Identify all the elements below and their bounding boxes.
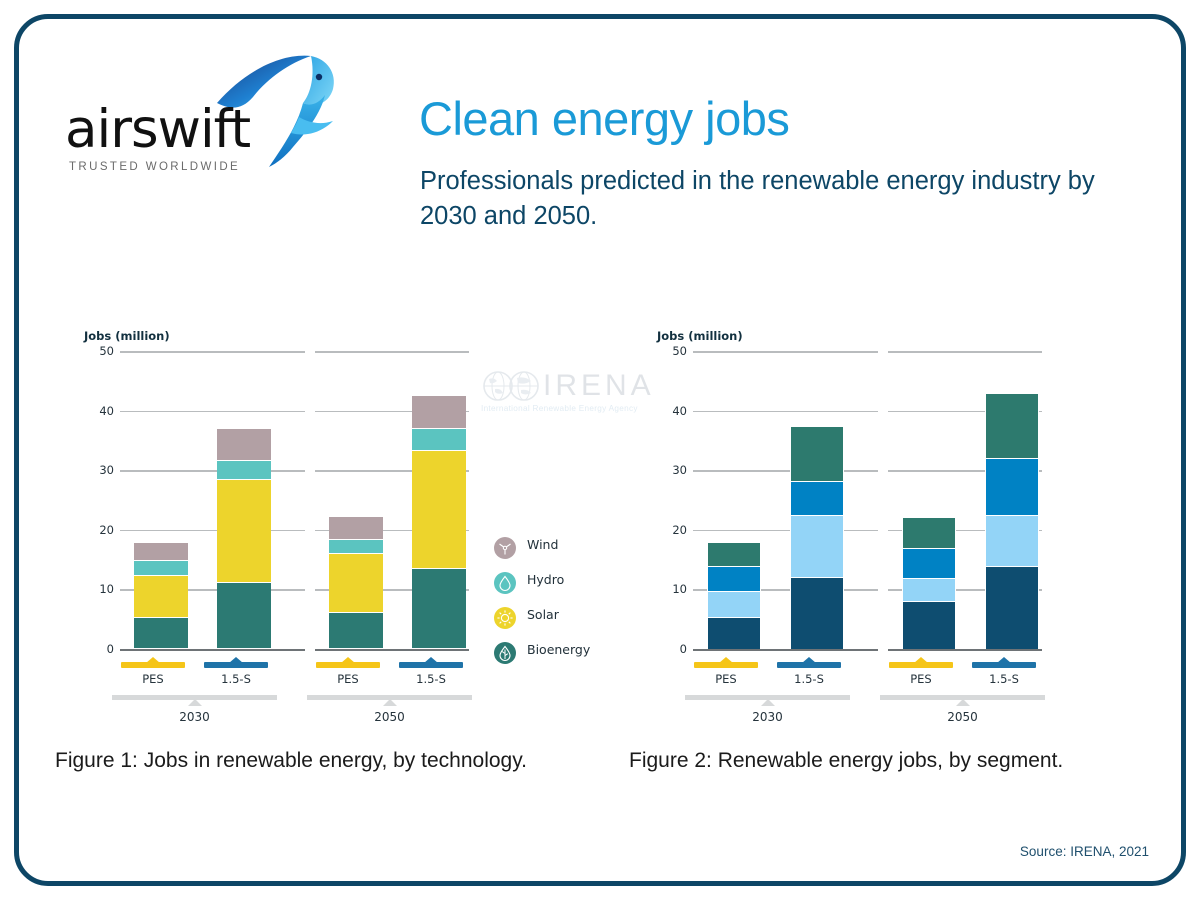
bar-segment[interactable] xyxy=(707,591,761,618)
scenario-marker-triangle xyxy=(768,657,850,669)
group-2030: 2030 xyxy=(112,695,277,724)
bar-segment[interactable] xyxy=(217,429,271,461)
gridline-segment xyxy=(693,411,878,413)
y-axis-tick-label: 10 xyxy=(84,582,114,596)
scenario-label: PES xyxy=(685,672,767,686)
scenario-1-5-s[interactable]: 1.5-S xyxy=(390,657,472,686)
bar-segment[interactable] xyxy=(412,569,466,649)
bar-segment[interactable] xyxy=(217,583,271,649)
scenario-1-5-s[interactable]: 1.5-S xyxy=(768,657,850,686)
group-label: 2030 xyxy=(112,710,277,724)
stacked-bar[interactable] xyxy=(707,542,761,649)
pes-marker-triangle xyxy=(685,657,767,669)
solar-sun-icon xyxy=(494,607,516,629)
bar-segment[interactable] xyxy=(329,613,383,649)
y-axis-tick-label: 20 xyxy=(84,523,114,537)
stacked-bar[interactable] xyxy=(329,517,383,649)
figure-2-caption: Figure 2: Renewable energy jobs, by segm… xyxy=(629,746,1149,776)
scenario-marker-triangle xyxy=(195,657,277,669)
bar-segment[interactable] xyxy=(134,618,188,649)
figure-1-caption: Figure 1: Jobs in renewable energy, by t… xyxy=(55,746,575,776)
gridline-segment xyxy=(120,411,305,413)
bar-segment[interactable] xyxy=(902,517,956,548)
bar-segment[interactable] xyxy=(985,393,1039,459)
bar-segment[interactable] xyxy=(902,601,956,649)
y-axis-tick-label: 50 xyxy=(84,344,114,358)
bar-segment[interactable] xyxy=(902,578,956,601)
bar-segment[interactable] xyxy=(707,566,761,591)
y-axis-title: Jobs (million) xyxy=(657,329,743,343)
group-label: 2050 xyxy=(307,710,472,724)
gridline-segment xyxy=(888,649,1042,651)
figure-1-legend: WindHydroSolarBioenergy xyxy=(494,537,590,677)
bar-segment[interactable] xyxy=(707,617,761,649)
bar-segment[interactable] xyxy=(902,548,956,578)
figure-1-chart: Jobs (million) IRENA International Ren xyxy=(49,329,629,729)
bar-segment[interactable] xyxy=(134,543,188,561)
scenario-label: PES xyxy=(880,672,962,686)
stacked-bar[interactable] xyxy=(985,393,1039,649)
irena-globes-icon xyxy=(481,369,543,403)
y-axis-tick-label: 40 xyxy=(84,404,114,418)
y-axis-title: Jobs (million) xyxy=(84,329,170,343)
bar-segment[interactable] xyxy=(412,429,466,450)
y-axis-tick-label: 20 xyxy=(657,523,687,537)
stacked-bar[interactable] xyxy=(902,517,956,649)
scenario-label: 1.5-S xyxy=(768,672,850,686)
scenario-label: 1.5-S xyxy=(390,672,472,686)
bar-segment[interactable] xyxy=(790,481,844,515)
legend-item[interactable]: Wind xyxy=(494,537,590,559)
scenario-label: PES xyxy=(307,672,389,686)
figure-2-plot-area: 50403020100 xyxy=(657,351,1042,649)
stacked-bar[interactable] xyxy=(217,429,271,649)
scenario-1-5-s[interactable]: 1.5-S xyxy=(195,657,277,686)
group-2050: 2050 xyxy=(880,695,1045,724)
gridline-segment xyxy=(120,470,305,472)
gridline xyxy=(84,649,469,650)
figure-2-chart: Jobs (million) IRENA International Ren xyxy=(622,329,1200,729)
y-axis-tick-label: 10 xyxy=(657,582,687,596)
scenario-label: PES xyxy=(112,672,194,686)
gridline-segment xyxy=(693,470,878,472)
bar-segment[interactable] xyxy=(329,540,383,554)
y-axis-tick-label: 40 xyxy=(657,404,687,418)
gridline-segment xyxy=(315,351,469,353)
pes-marker-triangle xyxy=(307,657,389,669)
bioenergy-leaf-icon xyxy=(494,642,516,664)
legend-item[interactable]: Hydro xyxy=(494,572,590,594)
scenario-pes[interactable]: PES xyxy=(880,657,962,686)
stacked-bar[interactable] xyxy=(412,396,466,649)
scenario-pes[interactable]: PES xyxy=(112,657,194,686)
bar-segment[interactable] xyxy=(134,576,188,618)
bar-segment[interactable] xyxy=(329,517,383,540)
legend-label: Bioenergy xyxy=(527,642,590,658)
group-label: 2050 xyxy=(880,710,1045,724)
legend-label: Solar xyxy=(527,607,559,623)
hydro-drop-icon xyxy=(494,572,516,594)
figure-1-x-axis: PES1.5-S2030PES1.5-S2050 xyxy=(84,657,469,727)
group-2030: 2030 xyxy=(685,695,850,724)
bar-segment[interactable] xyxy=(790,577,844,649)
page-subtitle: Professionals predicted in the renewable… xyxy=(420,164,1120,234)
page-title: Clean energy jobs xyxy=(419,91,789,146)
bar-segment[interactable] xyxy=(217,480,271,584)
y-axis-tick-label: 30 xyxy=(657,463,687,477)
gridline-segment xyxy=(120,649,305,651)
source-note: Source: IRENA, 2021 xyxy=(1020,844,1149,859)
group-label: 2030 xyxy=(685,710,850,724)
scenario-label: 1.5-S xyxy=(963,672,1045,686)
bar-segment[interactable] xyxy=(134,561,188,575)
gridline-segment xyxy=(693,530,878,532)
bar-segment[interactable] xyxy=(412,396,466,429)
scenario-label: 1.5-S xyxy=(195,672,277,686)
gridline-segment xyxy=(120,351,305,353)
legend-item[interactable]: Solar xyxy=(494,607,590,629)
bar-segment[interactable] xyxy=(707,542,761,566)
group-bracket xyxy=(112,695,277,705)
pes-marker-triangle xyxy=(112,657,194,669)
y-axis-tick-label: 30 xyxy=(84,463,114,477)
figure-1-plot-area: 50403020100 xyxy=(84,351,469,649)
y-axis-tick-label: 50 xyxy=(657,344,687,358)
logo-wordmark: airswift xyxy=(65,99,250,160)
gridline-segment xyxy=(120,530,305,532)
y-axis-tick-label: 0 xyxy=(657,642,687,656)
legend-label: Wind xyxy=(527,537,558,553)
bar-segment[interactable] xyxy=(985,566,1039,649)
group-bracket xyxy=(307,695,472,705)
bar-segment[interactable] xyxy=(790,515,844,578)
wind-turbine-icon xyxy=(494,537,516,559)
airswift-logo: airswift TRUSTED WORLDWIDE xyxy=(47,47,337,182)
slide-frame: airswift TRUSTED WORLDWIDE Clean energy … xyxy=(14,14,1186,886)
gridline xyxy=(657,351,1042,352)
gridline-segment xyxy=(315,649,469,651)
stacked-bar[interactable] xyxy=(790,426,844,649)
group-bracket xyxy=(685,695,850,705)
scenario-marker-triangle xyxy=(963,657,1045,669)
scenario-1-5-s[interactable]: 1.5-S xyxy=(963,657,1045,686)
group-bracket xyxy=(880,695,1045,705)
legend-label: Hydro xyxy=(527,572,564,588)
figure-2-x-axis: PES1.5-S2030PES1.5-S2050 xyxy=(657,657,1042,727)
gridline xyxy=(84,351,469,352)
bar-segment[interactable] xyxy=(217,461,271,480)
gridline-segment xyxy=(888,351,1042,353)
group-2050: 2050 xyxy=(307,695,472,724)
logo-tagline: TRUSTED WORLDWIDE xyxy=(69,161,240,173)
bar-segment[interactable] xyxy=(412,451,466,569)
gridline xyxy=(657,649,1042,650)
y-axis-tick-label: 0 xyxy=(84,642,114,656)
gridline-segment xyxy=(693,649,878,651)
bar-segment[interactable] xyxy=(329,554,383,613)
legend-item[interactable]: Bioenergy xyxy=(494,642,590,664)
bar-segment[interactable] xyxy=(985,458,1039,515)
scenario-pes[interactable]: PES xyxy=(307,657,389,686)
bar-segment[interactable] xyxy=(985,515,1039,566)
pes-marker-triangle xyxy=(880,657,962,669)
scenario-pes[interactable]: PES xyxy=(685,657,767,686)
bar-segment[interactable] xyxy=(790,426,844,481)
gridline-segment xyxy=(693,351,878,353)
scenario-marker-triangle xyxy=(390,657,472,669)
stacked-bar[interactable] xyxy=(134,543,188,649)
